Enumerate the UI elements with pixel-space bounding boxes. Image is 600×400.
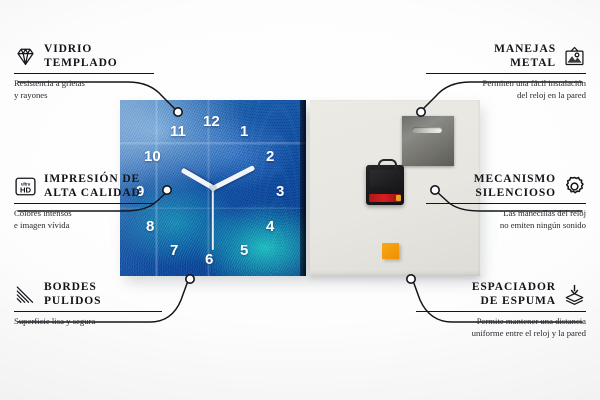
callout-rule — [426, 73, 586, 74]
callout-desc-2: uniforme entre el reloj y la pared — [416, 328, 586, 339]
gear-icon — [563, 175, 586, 198]
callout-title: IMPRESIÓN DE ALTA CALIDAD — [44, 172, 141, 200]
callout-desc-2: no emiten ningún sonido — [426, 220, 586, 231]
callout-desc-2: del reloj en la pared — [426, 90, 586, 101]
callout-title: ESPACIADOR DE ESPUMA — [472, 280, 556, 308]
callout-vidrio-templado: VIDRIO TEMPLADO Resistencia a grietas y … — [14, 42, 154, 101]
mechanism-loop — [378, 159, 397, 169]
callout-mecanismo-silencioso: MECANISMO SILENCIOSO Las manecillas del … — [426, 172, 586, 231]
battery-terminal — [396, 195, 401, 201]
callout-bordes-pulidos: BORDES PULIDOS Superficie lisa y segura — [14, 280, 162, 328]
callout-desc-1: Superficie lisa y segura — [14, 316, 162, 327]
callout-rule — [14, 311, 162, 312]
callout-desc-1: Permite mantener una distancia — [416, 316, 586, 327]
diamond-icon — [14, 45, 37, 68]
callout-title: MECANISMO SILENCIOSO — [474, 172, 556, 200]
numeral-6: 6 — [205, 252, 213, 267]
numeral-10: 10 — [144, 149, 161, 164]
callout-espaciador-espuma: ESPACIADOR DE ESPUMA Permite mantener un… — [416, 280, 586, 339]
callout-rule — [426, 203, 586, 204]
callout-header: BORDES PULIDOS — [14, 280, 162, 308]
callout-header: ultra HD IMPRESIÓN DE ALTA CALIDAD — [14, 172, 154, 200]
numeral-11: 11 — [170, 124, 186, 139]
hd-label: HD — [20, 185, 32, 194]
hands-center-cap — [210, 185, 216, 191]
callout-header: MANEJAS METAL — [426, 42, 586, 70]
second-hand — [212, 188, 214, 250]
callout-header: MECANISMO SILENCIOSO — [426, 172, 586, 200]
foam-spacer — [382, 243, 399, 259]
callout-desc-1: Resistencia a grietas — [14, 78, 154, 89]
callout-title: MANEJAS METAL — [494, 42, 556, 70]
callout-desc-2: e imagen vívida — [14, 220, 154, 231]
numeral-1: 1 — [240, 124, 248, 139]
callout-rule — [14, 73, 154, 74]
callout-title: VIDRIO TEMPLADO — [44, 42, 118, 70]
mechanism-face — [370, 170, 400, 187]
numeral-7: 7 — [170, 243, 178, 258]
numeral-5: 5 — [240, 243, 248, 258]
infographic-canvas: 12 1 2 3 4 5 6 7 8 9 10 11 — [0, 0, 600, 400]
clock-mechanism — [366, 165, 404, 205]
callout-impresion-alta-calidad: ultra HD IMPRESIÓN DE ALTA CALIDAD Color… — [14, 172, 154, 231]
callout-header: ESPACIADOR DE ESPUMA — [416, 280, 586, 308]
callout-desc-2: y rayones — [14, 90, 154, 101]
callout-title: BORDES PULIDOS — [44, 280, 101, 308]
callout-rule — [14, 203, 154, 204]
polished-edges-icon — [14, 283, 37, 306]
callout-rule — [416, 311, 586, 312]
callout-desc-1: Las manecillas del reloj — [426, 208, 586, 219]
numeral-2: 2 — [266, 149, 274, 164]
callout-desc-1: Permiten una fácil instalación — [426, 78, 586, 89]
hanger-slot — [412, 127, 442, 133]
numeral-3: 3 — [276, 184, 284, 199]
callout-manejas-metal: MANEJAS METAL Permiten una fácil instala… — [426, 42, 586, 101]
picture-hanger-icon — [563, 45, 586, 68]
metal-hanger-plate — [402, 116, 454, 166]
panel-right-edge — [300, 100, 306, 276]
callout-header: VIDRIO TEMPLADO — [14, 42, 154, 70]
foam-spacer-icon — [563, 283, 586, 306]
numeral-4: 4 — [266, 219, 274, 234]
ultra-hd-badge-icon: ultra HD — [14, 175, 37, 198]
callout-desc-1: Colores intensos — [14, 208, 154, 219]
numeral-12: 12 — [203, 114, 220, 129]
